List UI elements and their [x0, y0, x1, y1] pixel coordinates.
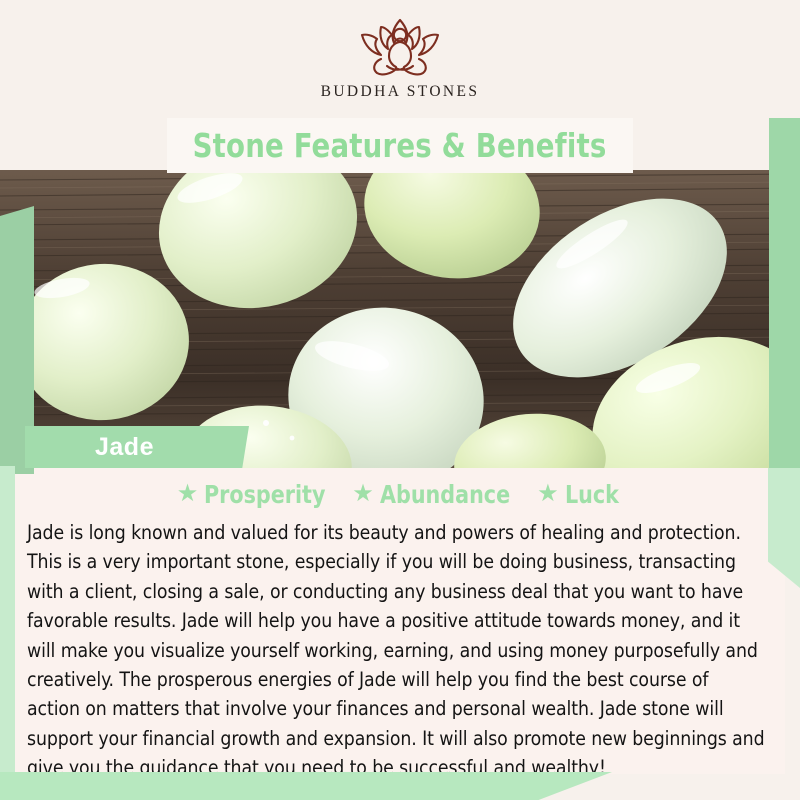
- benefit-item: ★ Luck: [537, 480, 623, 509]
- content-panel: ★ Prosperity ★ Abundance ★ Luck Jade is …: [15, 468, 785, 774]
- title-banner: Stone Features & Benefits: [167, 118, 633, 173]
- stone-name-badge: Jade: [25, 426, 249, 468]
- stone-description: Jade is long known and valued for its be…: [27, 518, 766, 783]
- page-title: Stone Features & Benefits: [193, 126, 607, 165]
- photo-illustration: [0, 170, 800, 468]
- decor-bar-left-body: [0, 466, 15, 800]
- jade-stones-photo: [0, 170, 800, 468]
- benefit-item: ★ Prosperity: [177, 480, 337, 509]
- benefit-label: Luck: [565, 480, 619, 509]
- lotus-meditation-icon: [341, 16, 459, 78]
- benefit-label: Prosperity: [204, 480, 325, 509]
- benefit-label: Abundance: [380, 480, 510, 509]
- benefit-item: ★ Abundance: [352, 480, 521, 509]
- benefits-row: ★ Prosperity ★ Abundance ★ Luck: [15, 476, 785, 512]
- star-icon: ★: [177, 482, 199, 506]
- brand-wordmark: BUDDHA STONES: [321, 83, 480, 101]
- stone-info-poster: BUDDHA STONES Stone Features & Benefits …: [0, 0, 800, 800]
- star-icon: ★: [537, 482, 559, 506]
- decor-bar-right-top: [769, 84, 800, 476]
- star-icon: ★: [352, 482, 374, 506]
- poster-header: BUDDHA STONES: [0, 0, 800, 118]
- stone-name-label: Jade: [95, 433, 154, 462]
- decor-bar-bottom: [0, 772, 612, 800]
